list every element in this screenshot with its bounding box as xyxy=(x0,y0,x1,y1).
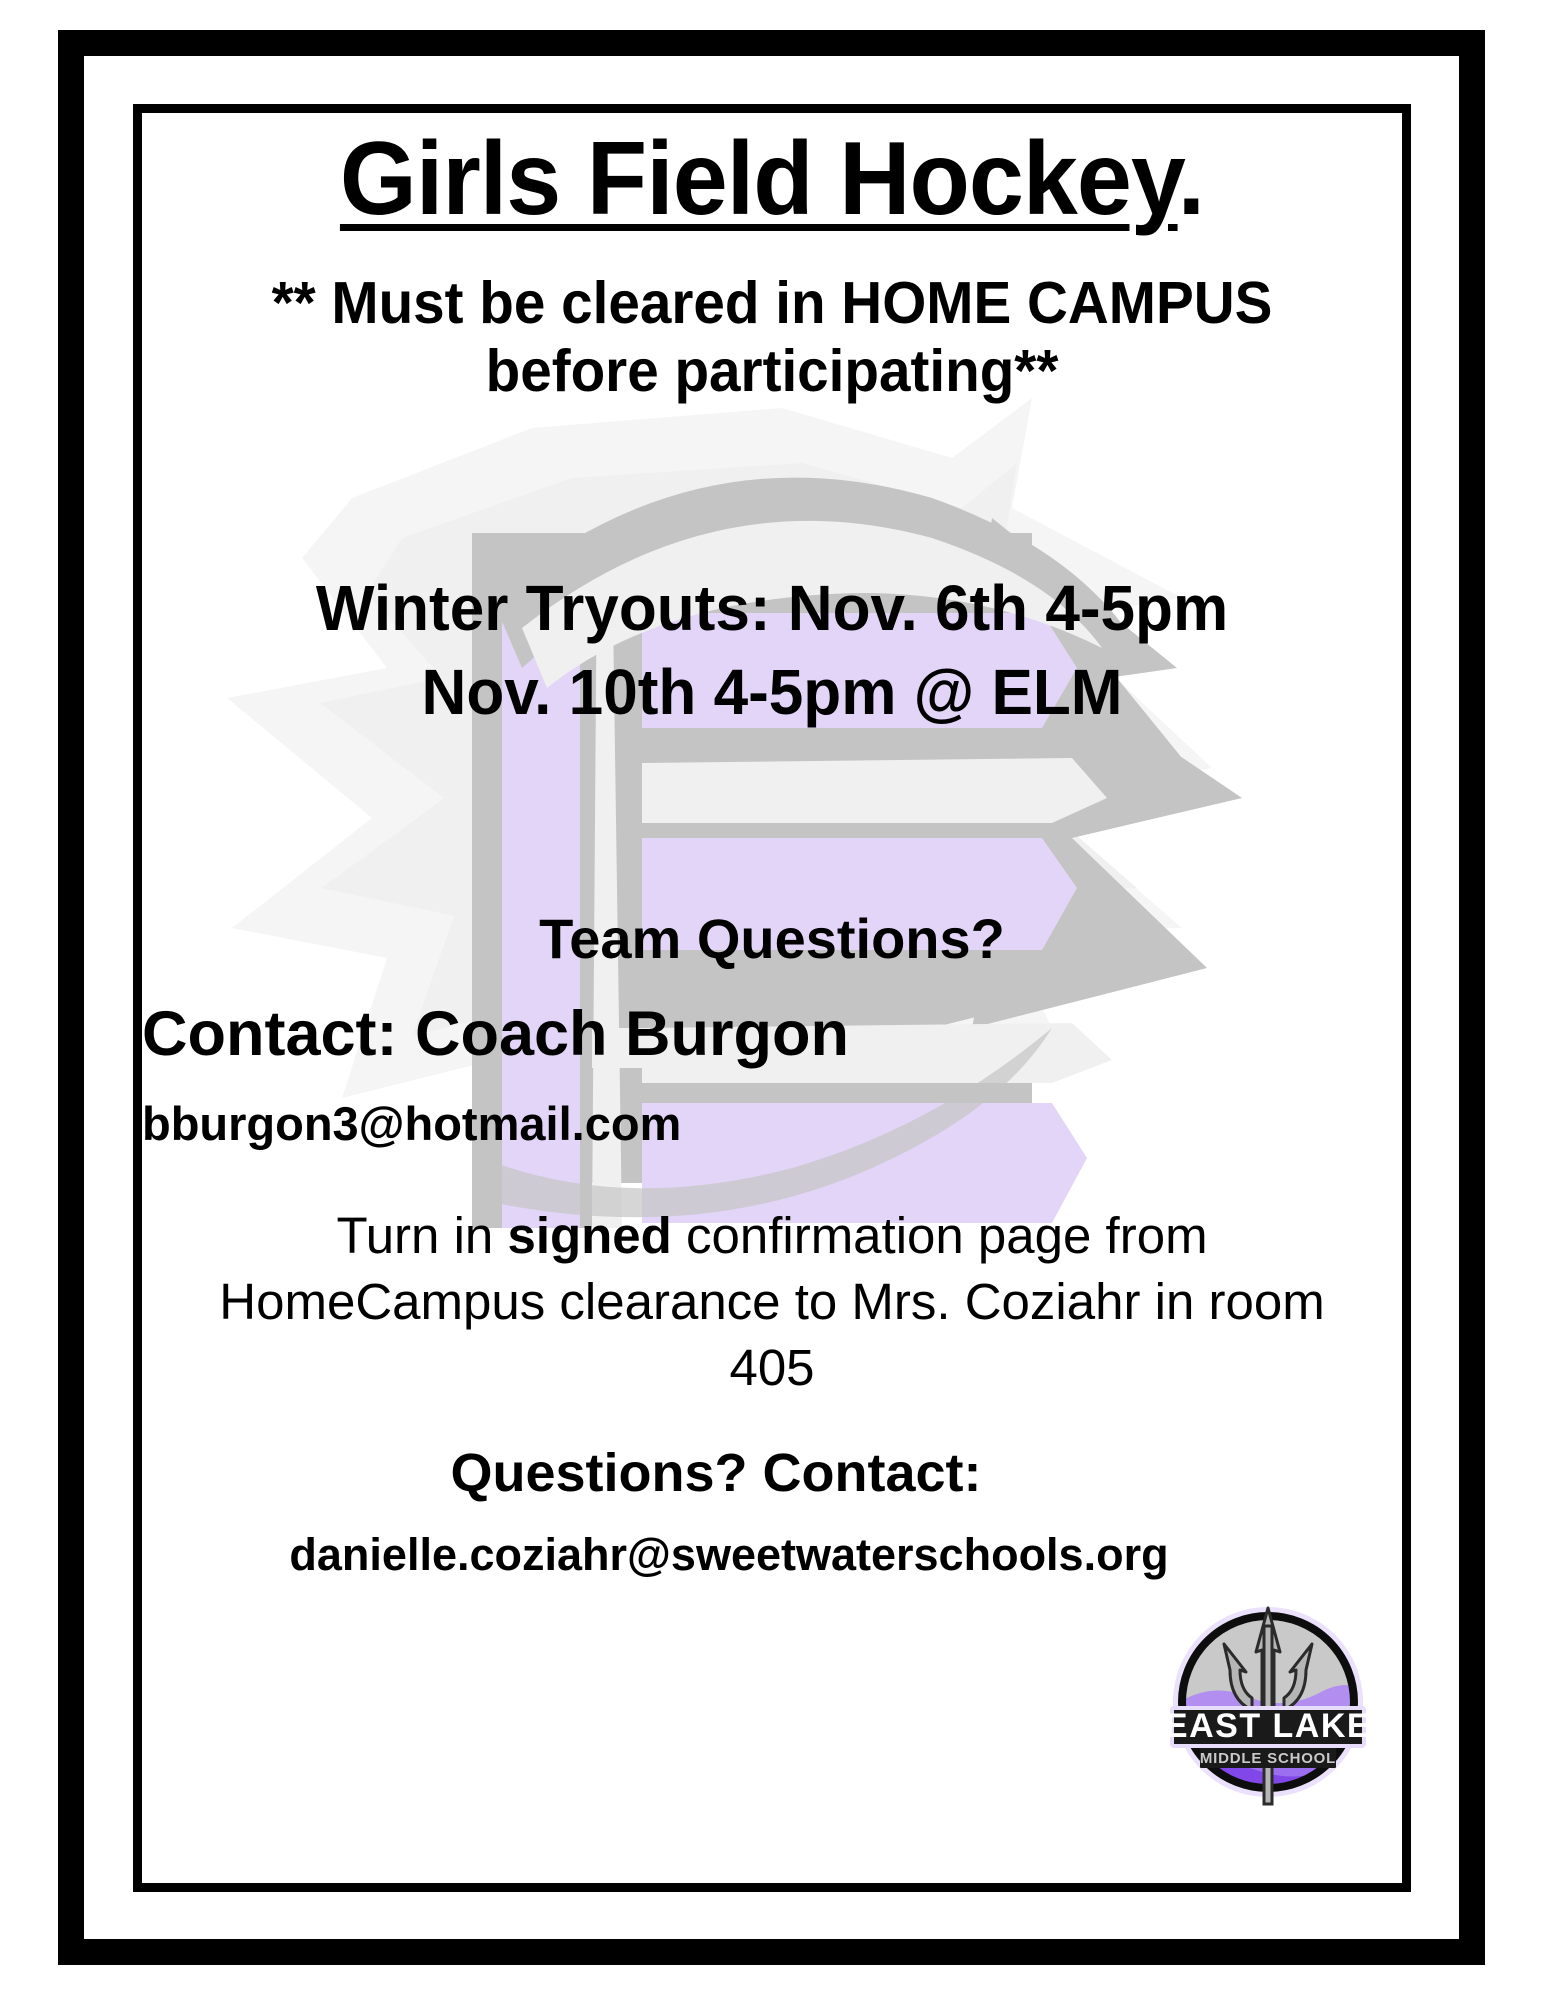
clearance-notice: ** Must be cleared in HOME CAMPUS before… xyxy=(202,269,1342,406)
page-title-period: . xyxy=(1178,121,1205,237)
coach-email-link[interactable]: bburgon3@hotmail.com xyxy=(142,1100,1402,1147)
coach-contact-line: Contact: Coach Burgon xyxy=(142,1003,1402,1066)
page-title-underlined: Girls Field Hockey xyxy=(340,121,1178,237)
tryouts-line-1: Winter Tryouts: Nov. 6th 4-5pm xyxy=(171,566,1374,650)
turn-in-instructions: Turn in signed confirmation page from Ho… xyxy=(194,1203,1350,1402)
flyer-content: Girls Field Hockey. ** Must be cleared i… xyxy=(142,113,1402,1883)
turn-in-emphasis: signed xyxy=(507,1207,671,1264)
turn-in-prefix: Turn in xyxy=(336,1207,507,1264)
page-title: Girls Field Hockey. xyxy=(174,127,1371,231)
tryouts-block: Winter Tryouts: Nov. 6th 4-5pm Nov. 10th… xyxy=(171,566,1374,735)
logo-banner-text: EAST LAKE xyxy=(1165,1707,1371,1745)
logo-sub-banner-text: MIDDLE SCHOOL xyxy=(1200,1750,1336,1767)
east-lake-middle-school-logo-icon: EAST LAKE MIDDLE SCHOOL xyxy=(1156,1592,1380,1807)
tryouts-line-2: Nov. 10th 4-5pm @ ELM xyxy=(171,650,1374,734)
flyer-poster: Girls Field Hockey. ** Must be cleared i… xyxy=(0,0,1545,2000)
team-questions-heading: Team Questions? xyxy=(142,911,1402,967)
office-email-link[interactable]: danielle.coziahr@sweetwaterschools.org xyxy=(142,1532,1316,1577)
questions-contact-heading: Questions? Contact: xyxy=(142,1446,1290,1500)
